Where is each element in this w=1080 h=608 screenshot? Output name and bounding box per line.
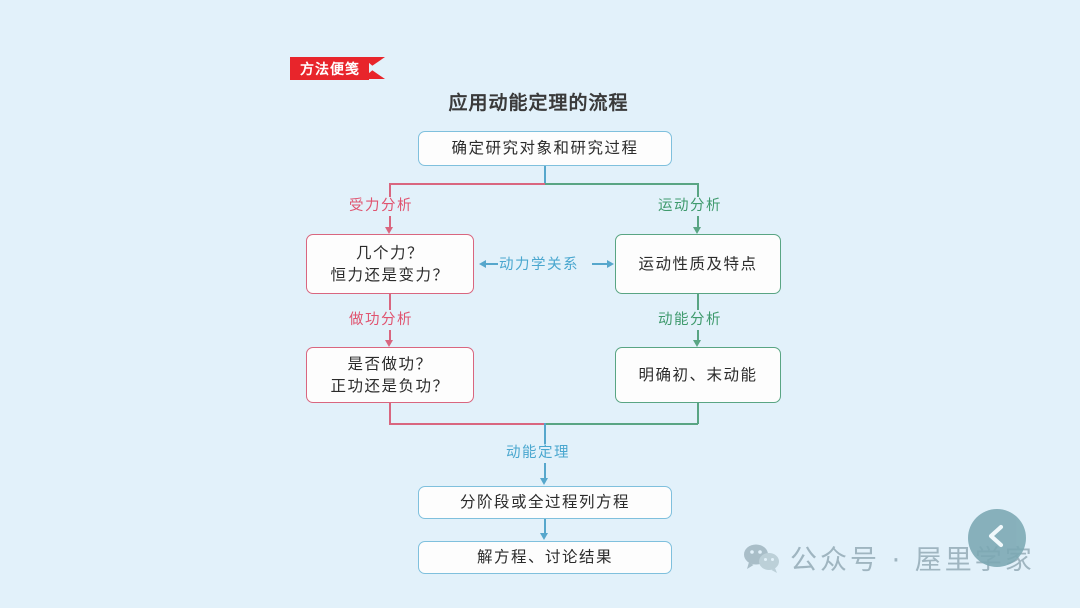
connector-dynamics-right	[592, 263, 607, 265]
connector-merge-left	[389, 423, 545, 425]
arrowhead-force-box	[385, 227, 393, 234]
edge-label-work-analysis: 做功分析	[349, 313, 413, 328]
connector-merge-right	[545, 423, 698, 425]
slide-canvas: 方法便笺 应用动能定理的流程 确定研究对象和研究过程 几个力？ 恒力还是变力？ …	[0, 0, 1080, 608]
arrowhead-motion-box	[693, 227, 701, 234]
connector-motion-to-energy-label	[697, 294, 699, 310]
connector-energy-down	[697, 403, 699, 424]
connector-equation-to-solve	[544, 519, 546, 534]
section-banner-label: 方法便笺	[290, 57, 369, 80]
connector-merge-to-theorem	[544, 423, 546, 444]
node-write-equation: 分阶段或全过程列方程	[418, 486, 672, 519]
page-title-text: 应用动能定理的流程	[448, 93, 628, 114]
connector-dynamics-left	[486, 263, 498, 265]
chevron-left-icon	[982, 521, 1012, 556]
arrowhead-solve-box	[540, 533, 548, 540]
connector-to-motion-label	[697, 183, 699, 197]
node-force-line1: 几个力？	[356, 242, 424, 264]
node-work-line2: 正功还是负功？	[330, 375, 449, 397]
wechat-icon	[742, 543, 782, 573]
node-work-analysis: 是否做功？ 正功还是负功？	[306, 347, 474, 403]
arrowhead-work-box	[385, 340, 393, 347]
back-button[interactable]	[968, 509, 1026, 567]
node-start-label: 确定研究对象和研究过程	[451, 137, 638, 159]
node-energy-label: 明确初、末动能	[638, 364, 757, 386]
node-solve-discuss: 解方程、讨论结果	[418, 541, 672, 574]
edge-label-motion-analysis: 运动分析	[658, 199, 722, 214]
node-force-analysis: 几个力？ 恒力还是变力？	[306, 234, 474, 294]
banner-arrow-icon	[369, 57, 385, 80]
arrowhead-energy-box	[693, 340, 701, 347]
edge-label-dynamics-relation: 动力学关系	[499, 258, 579, 273]
connector-force-to-work-label	[389, 294, 391, 310]
node-motion-label: 运动性质及特点	[638, 253, 757, 275]
node-work-line1: 是否做功？	[347, 353, 432, 375]
node-start: 确定研究对象和研究过程	[418, 131, 672, 166]
arrowhead-equation-box	[540, 478, 548, 485]
connector-to-force-label	[389, 183, 391, 197]
edge-label-energy-analysis: 动能分析	[658, 313, 722, 328]
node-eq-label: 分阶段或全过程列方程	[460, 491, 630, 513]
page-title: 应用动能定理的流程	[0, 88, 1080, 115]
arrowhead-dynamics-left	[479, 260, 486, 268]
node-kinetic-energy: 明确初、末动能	[615, 347, 781, 403]
node-force-line2: 恒力还是变力？	[330, 264, 449, 286]
connector-theorem-to-equation	[544, 463, 546, 479]
edge-label-force-analysis: 受力分析	[349, 199, 413, 214]
section-banner: 方法便笺	[290, 57, 385, 80]
connector-split-left	[389, 183, 545, 185]
node-motion-properties: 运动性质及特点	[615, 234, 781, 294]
connector-start-stub	[544, 166, 546, 184]
connector-work-down	[389, 403, 391, 424]
arrowhead-dynamics-right	[607, 260, 614, 268]
node-solve-label: 解方程、讨论结果	[477, 546, 613, 568]
edge-label-kinetic-theorem: 动能定理	[506, 446, 570, 461]
connector-split-right	[545, 183, 698, 185]
